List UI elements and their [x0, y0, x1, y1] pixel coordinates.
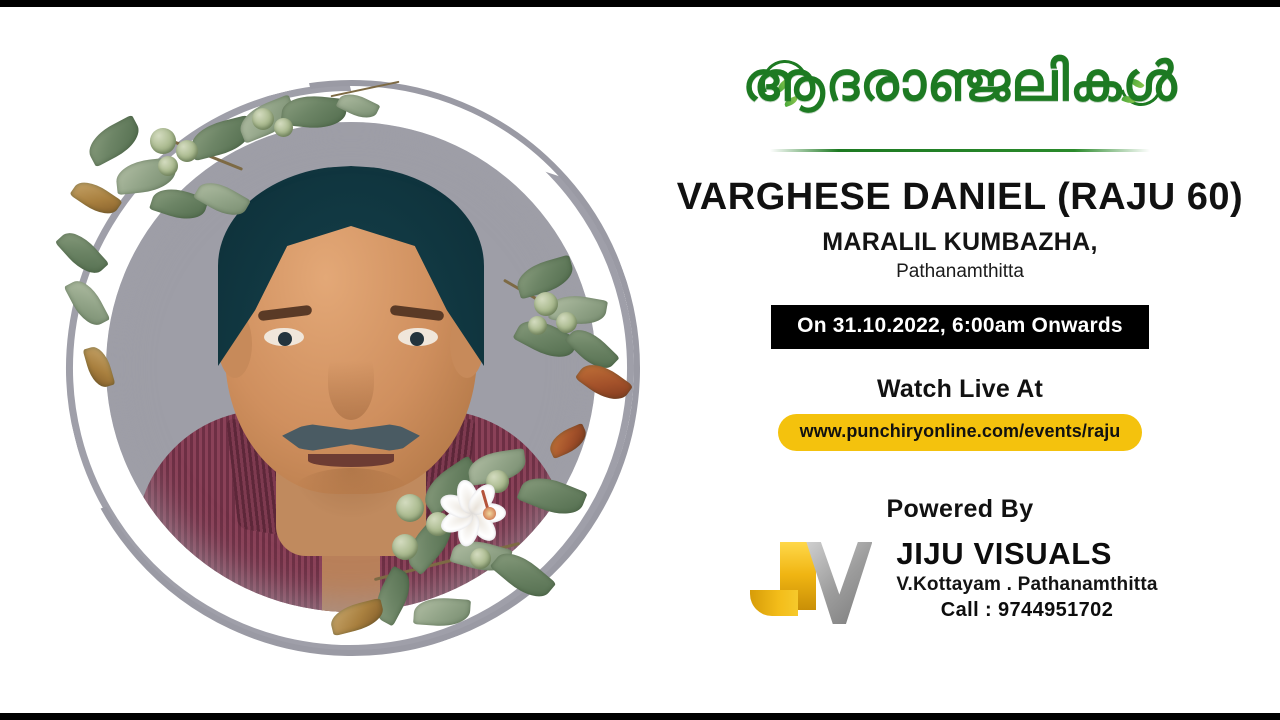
sponsor-brand-text: JIJU VISUALS V.Kottayam . Pathanamthitta…: [896, 538, 1157, 622]
deceased-house: MARALIL KUMBAZHA,: [822, 228, 1097, 257]
sponsor-brand: JIJU VISUALS V.Kottayam . Pathanamthitta…: [762, 534, 1157, 626]
company-address: V.Kottayam . Pathanamthitta: [896, 574, 1157, 596]
bottom-letterbox-bar: [0, 713, 1280, 720]
malayalam-tribute-text: ആദരാഞ്ജലികൾ: [740, 54, 1180, 111]
portrait-illustration: [106, 122, 596, 612]
portrait-panel: [0, 0, 660, 720]
memorial-poster: ആദരാഞ്ജലികൾ VARGHESE DANIEL (RAJU 60) MA…: [0, 0, 1280, 720]
watch-live-label: Watch Live At: [877, 375, 1043, 404]
powered-by-label: Powered By: [886, 495, 1033, 524]
deceased-name: VARGHESE DANIEL (RAJU 60): [677, 176, 1243, 219]
top-letterbox-bar: [0, 0, 1280, 7]
jv-logo-icon: [762, 534, 880, 626]
company-name: JIJU VISUALS: [896, 538, 1112, 571]
photo-vignette: [106, 122, 596, 612]
jv-logo-j-hook: [750, 590, 798, 616]
livestream-url-link[interactable]: www.punchiryonline.com/events/raju: [778, 414, 1143, 451]
portrait-photo: [106, 122, 596, 612]
announcement-details: ആദരാഞ്ജലികൾ VARGHESE DANIEL (RAJU 60) MA…: [640, 0, 1280, 720]
malayalam-tribute-heading: ആദരാഞ്ജലികൾ: [740, 54, 1180, 166]
deceased-place: Pathanamthitta: [896, 261, 1024, 283]
calligraphy-underline: [770, 149, 1150, 152]
company-phone: Call : 9744951702: [941, 599, 1113, 622]
event-date-banner: On 31.10.2022, 6:00am Onwards: [771, 305, 1149, 349]
